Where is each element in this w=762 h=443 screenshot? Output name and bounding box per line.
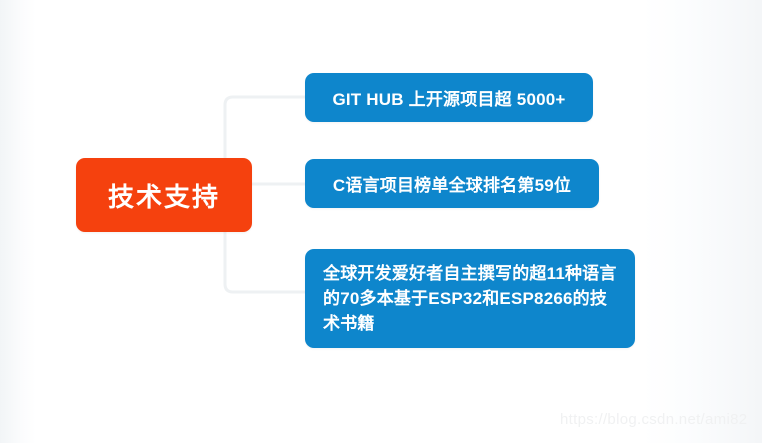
root-node[interactable]: 技术支持 [76,158,252,232]
branch-node-1[interactable]: GIT HUB 上开源项目超 5000+ [305,73,593,122]
branch-node-2-label: C语言项目榜单全球排名第59位 [333,171,571,196]
branch-node-1-label: GIT HUB 上开源项目超 5000+ [332,85,565,110]
branch-node-2[interactable]: C语言项目榜单全球排名第59位 [305,159,599,208]
diagram-canvas: 技术支持 GIT HUB 上开源项目超 5000+ C语言项目榜单全球排名第59… [0,0,762,443]
branch-node-3-label: 全球开发爱好者自主撰写的超11种语言的70多本基于ESP32和ESP8266的技… [323,261,617,336]
root-node-label: 技术支持 [108,177,220,214]
branch-node-3[interactable]: 全球开发爱好者自主撰写的超11种语言的70多本基于ESP32和ESP8266的技… [305,249,635,348]
watermark: https://blog.csdn.net/ami82 [560,411,747,428]
